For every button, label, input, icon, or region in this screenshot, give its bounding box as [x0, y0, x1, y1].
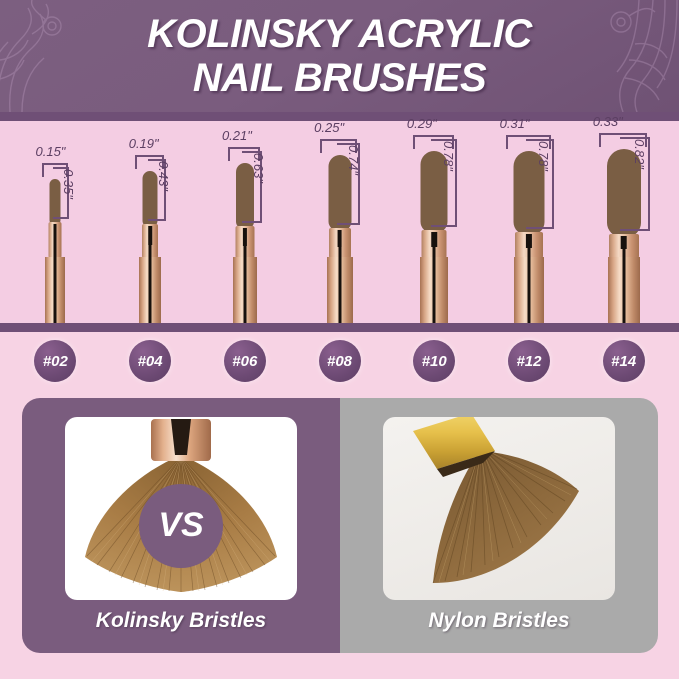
width-measure-label: 0.33"	[593, 114, 623, 129]
brush-size-badge[interactable]: #08	[319, 340, 361, 382]
brush-size-badge[interactable]: #02	[34, 340, 76, 382]
brush-size-badge[interactable]: #04	[129, 340, 171, 382]
brush-size-badge[interactable]: #10	[413, 340, 455, 382]
badge-cell: #14	[576, 340, 671, 382]
brush-handle-line	[54, 227, 57, 323]
badge-cell: #08	[292, 340, 387, 382]
brush-handle-line	[149, 229, 152, 323]
nylon-brush-photo	[383, 417, 615, 600]
brush-item: 0.15"0.35"	[8, 112, 103, 323]
width-measure-label: 0.21"	[222, 128, 252, 143]
brush-handle-line	[622, 239, 625, 323]
height-measure-label: 0.78"	[441, 141, 456, 171]
badge-cell: #04	[103, 340, 198, 382]
brush-size-badge[interactable]: #06	[224, 340, 266, 382]
brush-size-badge-row: #02#04#06#08#10#12#14	[0, 332, 679, 390]
brush-size-badge[interactable]: #14	[603, 340, 645, 382]
comparison-kolinsky: Kolinsky Bristles VS	[22, 398, 340, 653]
brush-item: 0.33"0.82"	[576, 112, 671, 323]
height-measure-label: 0.78"	[536, 141, 551, 171]
brush-item: 0.19"0.43"	[103, 112, 198, 323]
width-measure-label: 0.15"	[36, 144, 66, 159]
brush-size-badge[interactable]: #12	[508, 340, 550, 382]
height-measure-label: 0.35"	[61, 169, 76, 199]
brush-row: 0.15"0.35"0.19"0.43"0.21"0.63"0.25"0.74"…	[0, 112, 679, 323]
width-measure-label: 0.19"	[129, 136, 159, 151]
width-measure-label: 0.29"	[407, 116, 437, 131]
badge-cell: #06	[197, 340, 292, 382]
badge-cell: #12	[482, 340, 577, 382]
kolinsky-label: Kolinsky Bristles	[96, 609, 266, 633]
width-measure-label: 0.25"	[314, 120, 344, 135]
brush-item: 0.21"0.63"	[197, 112, 292, 323]
brush-handle-line	[338, 233, 341, 323]
height-measure-label: 0.82"	[632, 139, 647, 169]
badge-cell: #10	[387, 340, 482, 382]
nylon-fan-brush-icon	[383, 417, 615, 600]
page-header: KOLINSKY ACRYLIC NAIL BRUSHES	[0, 0, 679, 112]
brush-item: 0.31"0.78"	[482, 112, 577, 323]
height-measure-label: 0.74"	[346, 145, 361, 175]
band-divider-bottom	[0, 323, 679, 332]
brush-handle-line	[433, 235, 436, 323]
brush-item: 0.25"0.74"	[292, 112, 387, 323]
width-measure-label: 0.31"	[500, 116, 530, 131]
brush-handle-line	[243, 231, 246, 323]
height-measure-label: 0.43"	[156, 161, 171, 191]
bristle-comparison-panel: Kolinsky Bristles VS	[22, 398, 658, 653]
badge-cell: #02	[8, 340, 103, 382]
nylon-label: Nylon Bristles	[428, 609, 569, 633]
brush-item: 0.29"0.78"	[387, 112, 482, 323]
vs-badge: VS	[139, 484, 223, 568]
brush-handle-line	[527, 237, 530, 323]
page-title: KOLINSKY ACRYLIC NAIL BRUSHES	[0, 12, 679, 100]
comparison-nylon: Nylon Bristles	[340, 398, 658, 653]
height-measure-label: 0.63"	[251, 153, 266, 183]
